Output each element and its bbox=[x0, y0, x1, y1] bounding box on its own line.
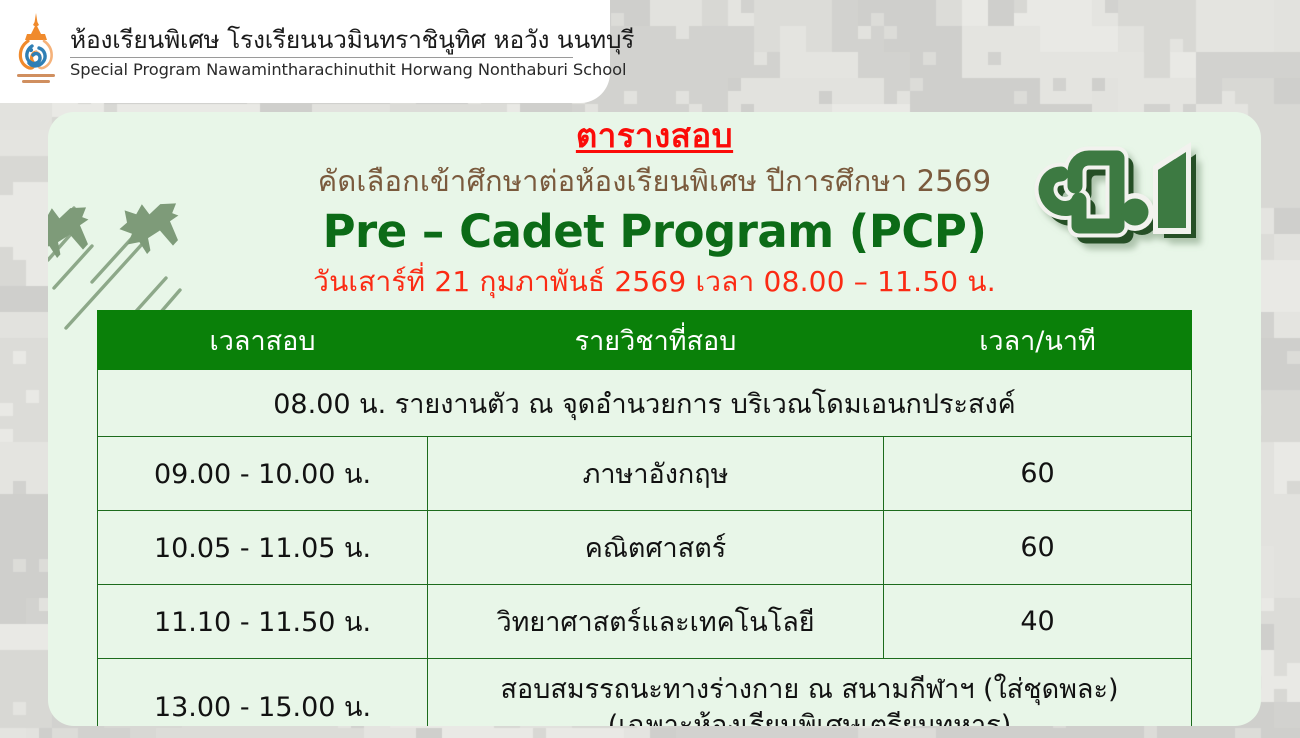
page-title: ตารางสอบ bbox=[48, 115, 1261, 157]
column-header-minutes: เวลา/นาที bbox=[884, 311, 1192, 370]
cell-minutes: 60 bbox=[884, 511, 1192, 585]
exam-date-line: วันเสาร์ที่ 21 กุมภาพันธ์ 2569 เวลา 08.0… bbox=[48, 264, 1261, 300]
table-header-row: เวลาสอบ รายวิชาที่สอบ เวลา/นาที bbox=[98, 311, 1192, 370]
schedule-table: เวลาสอบ รายวิชาที่สอบ เวลา/นาที 08.00 น.… bbox=[97, 310, 1192, 726]
schedule-table-wrapper: เวลาสอบ รายวิชาที่สอบ เวลา/นาที 08.00 น.… bbox=[97, 310, 1191, 726]
report-cell: 08.00 น. รายงานตัว ณ จุดอำนวยการ บริเวณโ… bbox=[98, 370, 1192, 437]
school-name-thai: ห้องเรียนพิเศษ โรงเรียนนวมินทราชินูทิศ ห… bbox=[70, 26, 634, 53]
header-divider bbox=[70, 57, 573, 58]
table-row: 09.00 - 10.00 น. ภาษาอังกฤษ 60 bbox=[98, 437, 1192, 511]
cell-minutes: 60 bbox=[884, 437, 1192, 511]
cell-subject: คณิตศาสตร์ bbox=[428, 511, 884, 585]
cell-minutes: 40 bbox=[884, 585, 1192, 659]
physical-test-line-2: (เฉพาะห้องเรียนพิเศษเตรียมทหาร) bbox=[432, 708, 1187, 726]
program-name: Pre – Cadet Program (PCP) bbox=[48, 204, 1261, 260]
cell-subject: วิทยาศาสตร์และเทคโนโลยี bbox=[428, 585, 884, 659]
poster-headings: ตารางสอบ คัดเลือกเข้าศึกษาต่อห้องเรียนพิ… bbox=[48, 112, 1261, 300]
table-row-physical-test: 13.00 - 15.00 น. สอบสมรรถนะทางร่างกาย ณ … bbox=[98, 659, 1192, 726]
physical-test-line-1: สอบสมรรถนะทางร่างกาย ณ สนามกีฬาฯ (ใส่ชุด… bbox=[432, 672, 1187, 708]
table-row: 11.10 - 11.50 น. วิทยาศาสตร์และเทคโนโลยี… bbox=[98, 585, 1192, 659]
table-row: 10.05 - 11.05 น. คณิตศาสตร์ 60 bbox=[98, 511, 1192, 585]
cell-physical-test-note: สอบสมรรถนะทางร่างกาย ณ สนามกีฬาฯ (ใส่ชุด… bbox=[428, 659, 1192, 726]
cell-time: 11.10 - 11.50 น. bbox=[98, 585, 428, 659]
school-header-bar: ห้องเรียนพิเศษ โรงเรียนนวมินทราชินูทิศ ห… bbox=[0, 0, 610, 103]
column-header-time: เวลาสอบ bbox=[98, 311, 428, 370]
school-name-english: Special Program Nawamintharachinuthit Ho… bbox=[70, 61, 634, 79]
school-name-block: ห้องเรียนพิเศษ โรงเรียนนวมินทราชินูทิศ ห… bbox=[70, 24, 634, 78]
cell-time: 13.00 - 15.00 น. bbox=[98, 659, 428, 726]
column-header-subject: รายวิชาที่สอบ bbox=[428, 311, 884, 370]
cell-time: 10.05 - 11.05 น. bbox=[98, 511, 428, 585]
school-emblem-logo bbox=[8, 10, 64, 94]
poster-card: ม.1 ตารางสอบ คัดเลือกเข้าศึกษาต่อห้องเรี… bbox=[48, 112, 1261, 726]
table-row-report: 08.00 น. รายงานตัว ณ จุดอำนวยการ บริเวณโ… bbox=[98, 370, 1192, 437]
cell-subject: ภาษาอังกฤษ bbox=[428, 437, 884, 511]
cell-time: 09.00 - 10.00 น. bbox=[98, 437, 428, 511]
poster-subtitle: คัดเลือกเข้าศึกษาต่อห้องเรียนพิเศษ ปีการ… bbox=[48, 161, 1261, 202]
